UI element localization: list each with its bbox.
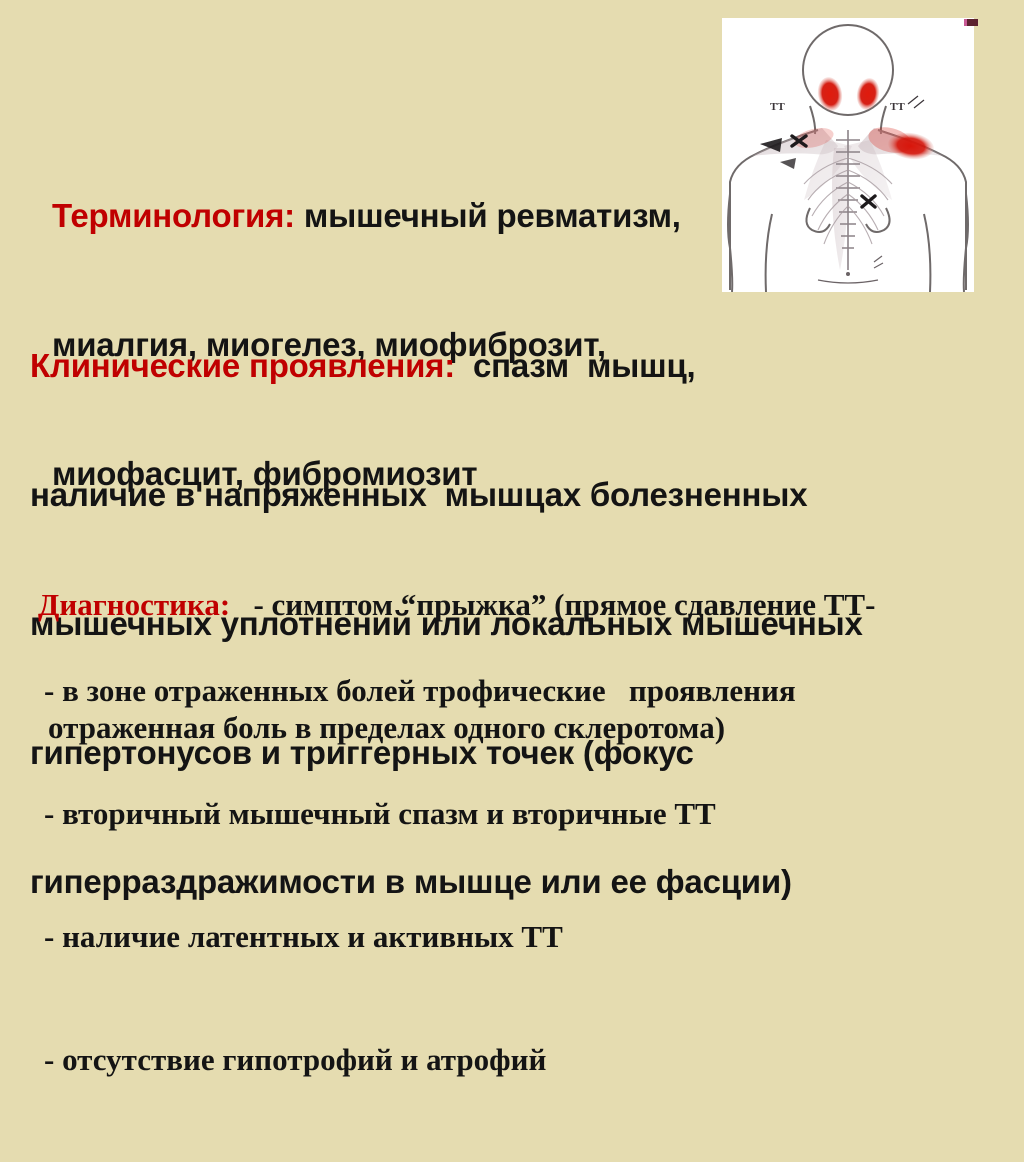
upper-back-trigger-point-diagram: TT TT <box>722 18 974 292</box>
slide-canvas: Терминология: мышечный ревматизм, миалги… <box>0 0 1024 767</box>
tt-label-right: TT <box>890 101 905 113</box>
diagnostics-bullet-list: - в зоне отраженных болей трофические пр… <box>44 588 1004 1162</box>
scan-artifact <box>964 19 978 26</box>
terminology-line-1: Терминология: мышечный ревматизм, <box>52 194 752 237</box>
terminology-line-1-rest: мышечный ревматизм, <box>295 197 681 234</box>
clinical-lead: Клинические проявления: <box>30 347 455 384</box>
list-item: - наличие латентных и активных ТТ <box>44 916 1004 957</box>
tt-label-left: TT <box>770 101 785 113</box>
clinical-line-1: Клинические проявления: спазм мышц, <box>30 344 910 387</box>
list-item: - отсутствие гипотрофий и атрофий <box>44 1039 1004 1080</box>
clinical-line-1-rest: спазм мышц, <box>455 347 695 384</box>
anatomy-illustration-svg: TT TT <box>722 18 974 292</box>
list-item: - вторичный мышечный спазм и вторичные Т… <box>44 793 1004 834</box>
list-item: - в зоне отраженных болей трофические пр… <box>44 670 1004 711</box>
terminology-lead: Терминология: <box>52 197 295 234</box>
